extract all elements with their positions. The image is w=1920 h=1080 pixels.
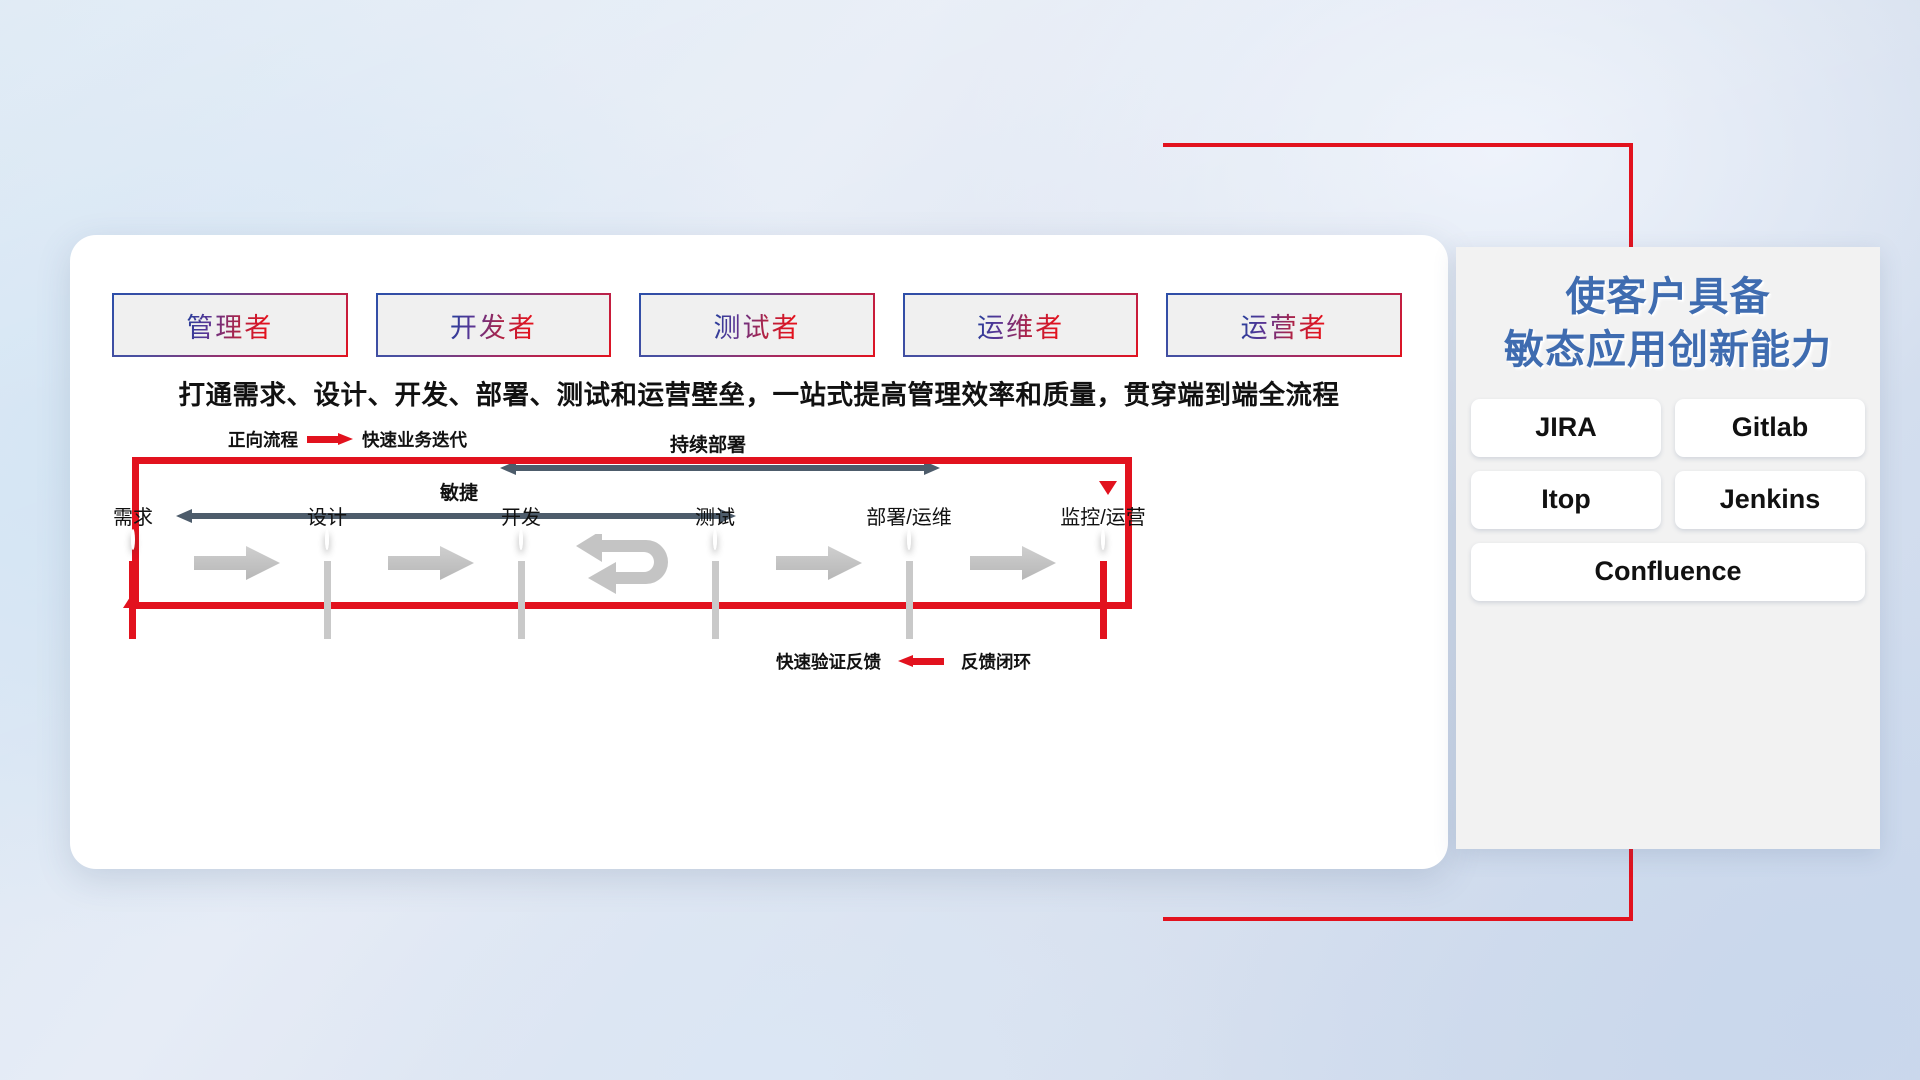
agile-label: 敏捷 <box>440 478 478 505</box>
role-box-label: 运营者 <box>1241 306 1328 345</box>
pipeline-node-dot <box>907 529 911 550</box>
pipeline-node-label: 监控/运营 <box>1060 501 1146 530</box>
pipeline-node-label: 开发 <box>501 501 541 530</box>
tool-chip-itop[interactable]: Itop <box>1471 471 1661 529</box>
panel-title: 使客户具备 敏态应用创新能力 <box>1456 271 1880 377</box>
tool-chip-label: JIRA <box>1535 412 1597 443</box>
role-box-manager[interactable]: 管理者 <box>112 293 348 357</box>
flow-arrow-3-icon <box>776 546 862 580</box>
node-stem-monitor <box>1100 561 1107 639</box>
tool-chip-label: Itop <box>1541 484 1590 515</box>
arrow-left-red-icon <box>898 655 944 668</box>
pipeline-node-dot <box>325 529 329 550</box>
loop-back-arrow-icon <box>576 534 676 594</box>
node-stem-develop <box>518 561 525 639</box>
pipeline-node-test[interactable]: 测试 <box>678 531 752 549</box>
forward-flow-label: 正向流程 <box>228 427 298 452</box>
tool-chip-gitlab[interactable]: Gitlab <box>1675 399 1865 457</box>
role-box-label: 开发者 <box>450 306 537 345</box>
feedback-annotation: 快速验证反馈 反馈闭环 <box>776 649 1031 674</box>
pipeline-node-design[interactable]: 设计 <box>290 531 364 549</box>
role-box-label: 管理者 <box>186 306 273 345</box>
flow-arrow-2-icon <box>388 546 474 580</box>
pipeline-node-deploy-ops[interactable]: 部署/运维 <box>872 531 946 549</box>
tool-chip-label: Confluence <box>1594 556 1741 587</box>
pipeline-node-develop[interactable]: 开发 <box>484 531 558 549</box>
feedback-loop-label: 反馈闭环 <box>961 649 1031 674</box>
role-box-label: 运维者 <box>977 306 1064 345</box>
pipeline-node-dot <box>713 529 717 550</box>
pipeline-node-label: 需求 <box>113 501 153 530</box>
role-box-ops[interactable]: 运维者 <box>903 293 1139 357</box>
tool-chip-jira[interactable]: JIRA <box>1471 399 1661 457</box>
role-box-developer[interactable]: 开发者 <box>376 293 612 357</box>
tool-chip-label: Jenkins <box>1720 484 1821 515</box>
pipeline-node-dot <box>1101 529 1105 550</box>
node-stem-requirement <box>129 561 136 639</box>
forward-flow-annotation: 正向流程 快速业务迭代 <box>228 427 467 452</box>
card-headline: 打通需求、设计、开发、部署、测试和运营壁垒，一站式提高管理效率和质量，贯穿端到端… <box>70 373 1448 412</box>
forward-flow-result: 快速业务迭代 <box>362 427 467 452</box>
pipeline-node-dot <box>519 529 523 550</box>
role-box-label: 测试者 <box>713 306 800 345</box>
role-box-row: 管理者 开发者 测试者 运维者 运营者 <box>112 293 1402 357</box>
panel-title-line-1: 使客户具备 <box>1456 271 1880 324</box>
pipeline-node-monitor-operate[interactable]: 监控/运营 <box>1066 531 1140 549</box>
panel-title-line-2: 敏态应用创新能力 <box>1456 324 1880 377</box>
pipeline-node-label: 测试 <box>695 501 735 530</box>
flow-arrow-1-icon <box>194 546 280 580</box>
capability-panel: 使客户具备 敏态应用创新能力 JIRA Gitlab Itop Jenkins … <box>1456 247 1880 849</box>
flow-arrow-4-icon <box>970 546 1056 580</box>
node-stem-design <box>324 561 331 639</box>
devops-pipeline: 需求 设计 开发 测试 部署/运维 监控/运营 <box>70 509 1448 639</box>
continuous-deployment-label: 持续部署 <box>670 430 746 457</box>
loop-top-edge <box>132 457 1132 464</box>
feedback-result-label: 快速验证反馈 <box>776 649 881 674</box>
loop-arrowhead-down-icon <box>1099 481 1117 495</box>
main-diagram-card: 管理者 开发者 测试者 运维者 运营者 打通需求、设计、开发、部署、测试和运营壁… <box>70 235 1448 869</box>
tool-chip-label: Gitlab <box>1732 412 1809 443</box>
tool-chip-list: JIRA Gitlab Itop Jenkins Confluence <box>1468 399 1868 601</box>
role-box-operator[interactable]: 运营者 <box>1166 293 1402 357</box>
node-stem-deploy <box>906 561 913 639</box>
pipeline-node-requirement[interactable]: 需求 <box>96 531 170 549</box>
pipeline-node-label: 设计 <box>307 501 347 530</box>
tool-chip-jenkins[interactable]: Jenkins <box>1675 471 1865 529</box>
role-box-tester[interactable]: 测试者 <box>639 293 875 357</box>
pipeline-node-dot <box>131 529 135 550</box>
arrow-right-red-icon <box>307 433 353 446</box>
node-stem-test <box>712 561 719 639</box>
tool-chip-confluence[interactable]: Confluence <box>1471 543 1865 601</box>
pipeline-node-label: 部署/运维 <box>866 501 952 530</box>
